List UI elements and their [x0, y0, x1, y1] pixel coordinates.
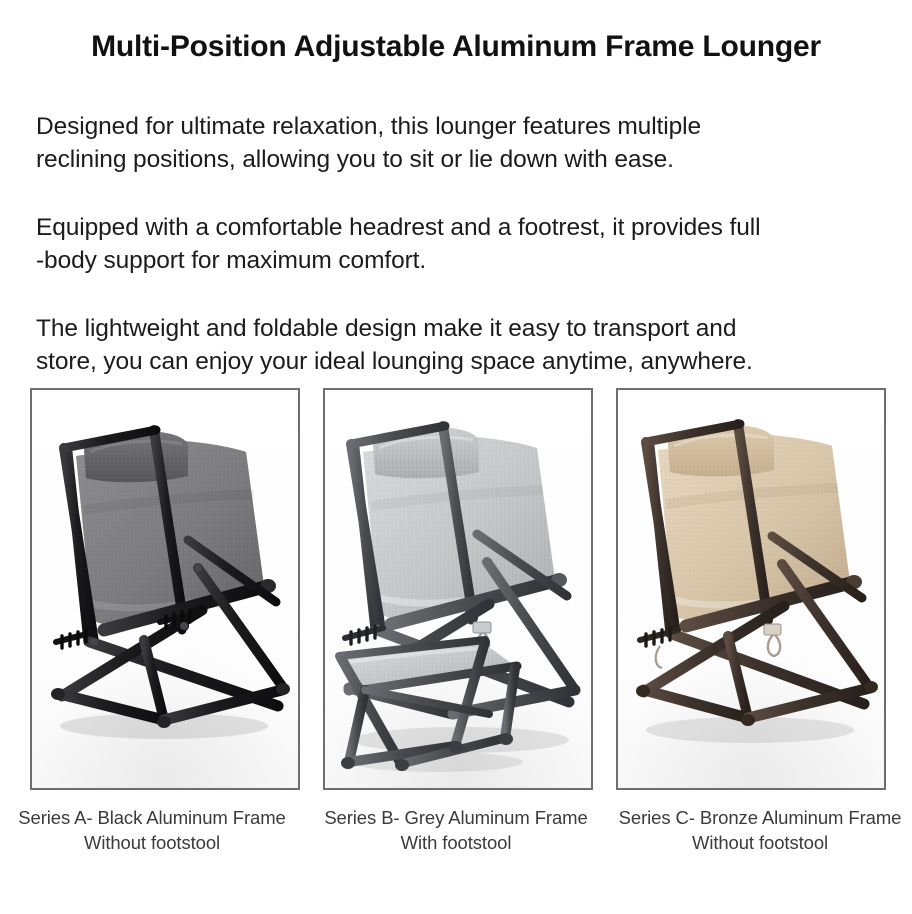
chair-illustration-series-c	[618, 390, 884, 788]
chair-illustration-series-a	[32, 390, 298, 788]
description-paragraph-1: Designed for ultimate relaxation, this l…	[36, 110, 888, 176]
caption-series-c-line-2: Without footstool	[608, 830, 912, 855]
description-paragraph-3: The lightweight and foldable design make…	[36, 312, 888, 378]
product-panel-series-c[interactable]	[616, 388, 886, 790]
product-panel-series-b[interactable]	[323, 388, 593, 790]
product-caption-row: Series A- Black Aluminum Frame Without f…	[0, 805, 912, 855]
caption-series-c-line-1: Series C- Bronze Aluminum Frame	[608, 805, 912, 830]
paragraph-3-line-1: The lightweight and foldable design make…	[36, 315, 736, 342]
product-image-row	[30, 388, 886, 790]
description-block: Designed for ultimate relaxation, this l…	[36, 110, 888, 200]
product-photo-series-a	[32, 390, 298, 788]
caption-series-a-line-2: Without footstool	[0, 830, 304, 855]
product-photo-series-b	[325, 390, 591, 788]
paragraph-1-line-1: Designed for ultimate relaxation, this l…	[36, 113, 701, 140]
paragraph-3-line-2: store, you can enjoy your ideal lounging…	[36, 345, 888, 378]
caption-series-a: Series A- Black Aluminum Frame Without f…	[0, 805, 304, 855]
description-block-2: Equipped with a comfortable headrest and…	[36, 211, 888, 301]
product-panel-series-a[interactable]	[30, 388, 300, 790]
paragraph-2-line-1: Equipped with a comfortable headrest and…	[36, 214, 760, 241]
paragraph-1-line-2: reclining positions, allowing you to sit…	[36, 143, 888, 176]
caption-series-b-line-2: With footstool	[304, 830, 608, 855]
caption-series-c: Series C- Bronze Aluminum Frame Without …	[608, 805, 912, 855]
description-paragraph-2: Equipped with a comfortable headrest and…	[36, 211, 888, 277]
chair-illustration-series-b	[325, 390, 591, 788]
caption-series-b-line-1: Series B- Grey Aluminum Frame	[304, 805, 608, 830]
page-title: Multi-Position Adjustable Aluminum Frame…	[0, 30, 912, 64]
caption-series-b: Series B- Grey Aluminum Frame With foots…	[304, 805, 608, 855]
product-photo-series-c	[618, 390, 884, 788]
paragraph-2-line-2: -body support for maximum comfort.	[36, 244, 888, 277]
caption-series-a-line-1: Series A- Black Aluminum Frame	[0, 805, 304, 830]
